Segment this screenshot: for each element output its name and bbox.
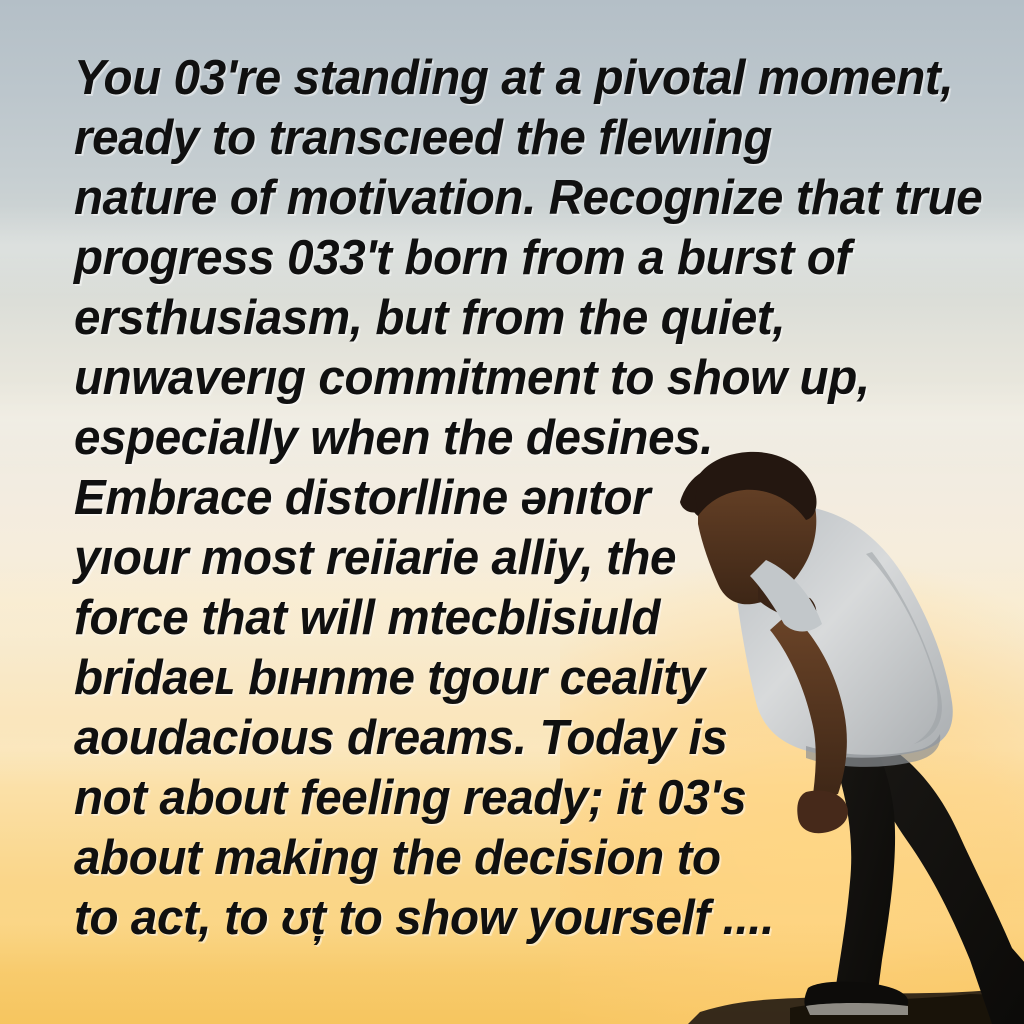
quote-line: ready to transcıeed the flewıing [74,108,996,168]
quote-line: not about feeling ready; it 03's [74,768,996,828]
quote-line: bridaeʟ bıнnme tgour ceality [74,648,996,708]
quote-line: unwaverıg commitment to show up, [74,348,996,408]
quote-line: force that will mtecblisiuld [74,588,996,648]
quote-line: ersthusiasm, but from the quiet, [74,288,996,348]
quote-line: Embrace distorlline ǝnıtor [74,468,996,528]
quote-line: progress 033't born from a burst of [74,228,996,288]
quote-line: You 03're standing at a pivotal moment, [74,48,996,108]
motivational-quote-poster: You 03're standing at a pivotal moment, … [0,0,1024,1024]
quote-line: yıour most reiiarie alliy, the [74,528,996,588]
quote-line: aoudacious dreams. Today is [74,708,996,768]
quote-line: to act, to ʊț to show yourself .... [74,888,996,948]
quote-text-block: You 03're standing at a pivotal moment, … [74,48,1024,948]
quote-line: about making the decision to [74,828,996,888]
quote-line: nature of motivation. Recognize that tru… [74,168,996,228]
quote-line: especially when the desines. [74,408,996,468]
